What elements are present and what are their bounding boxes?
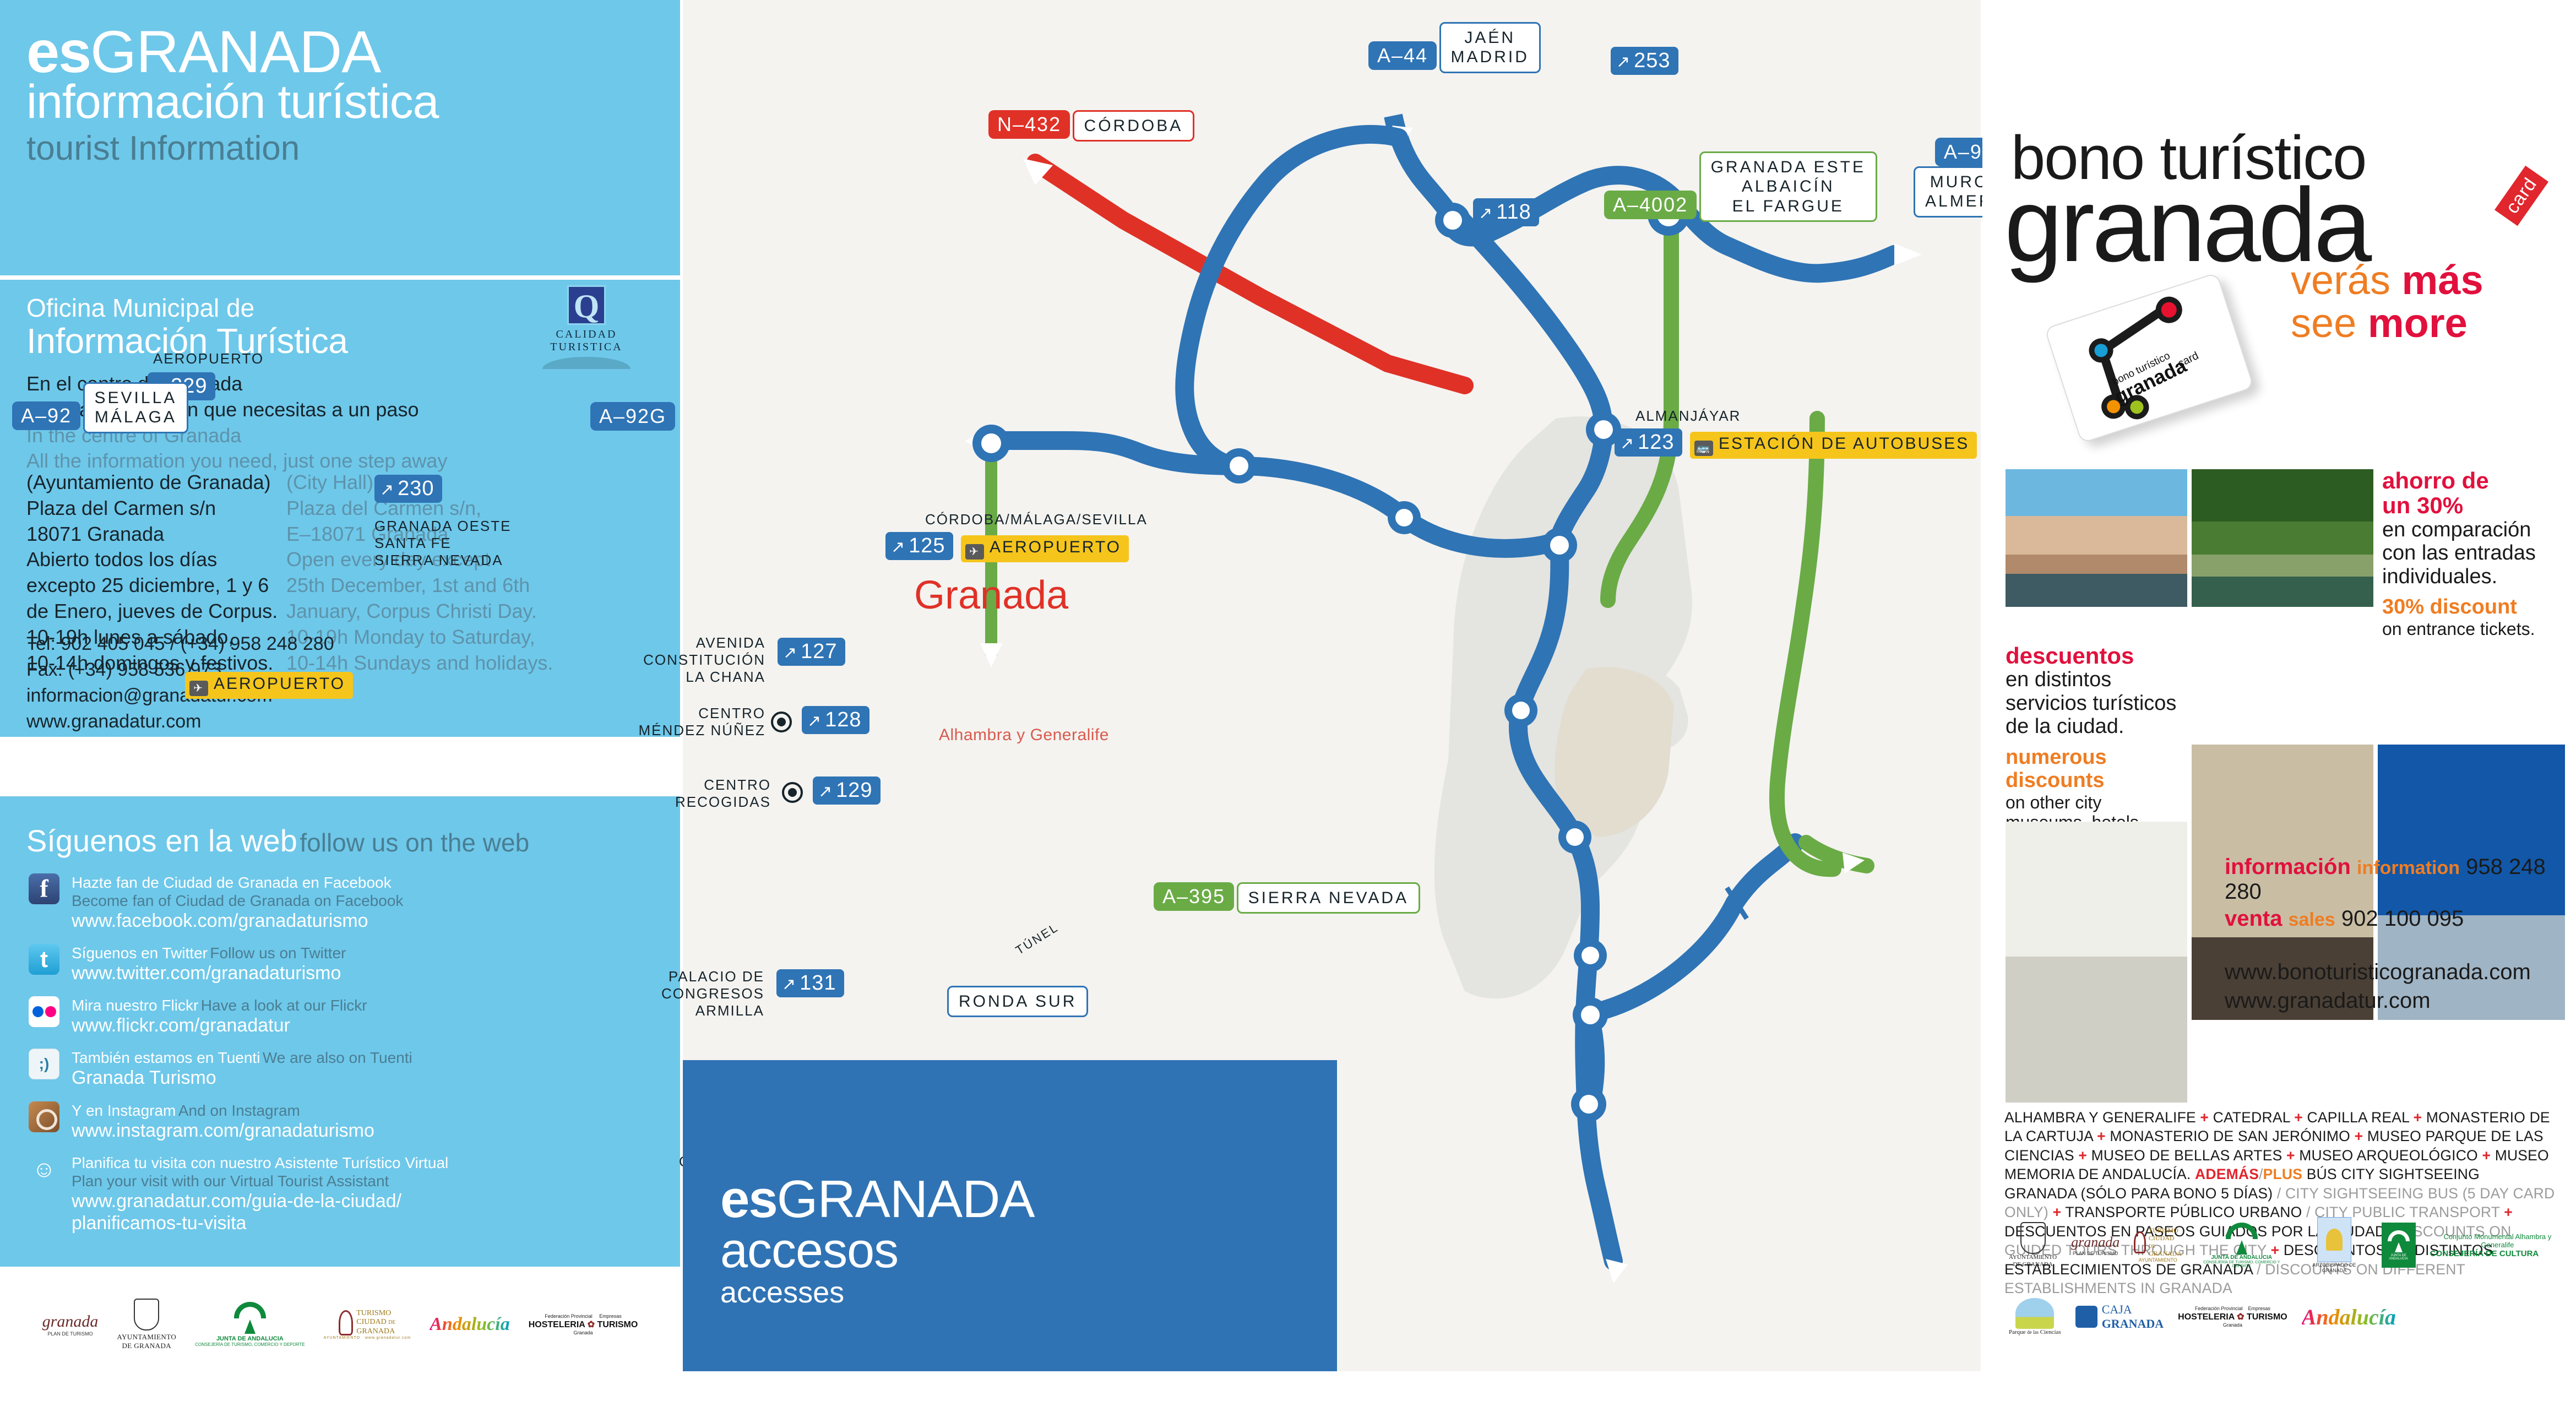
slogan-es-1: verás xyxy=(2291,257,2402,303)
office-title-small: Oficina Municipal de xyxy=(26,293,348,323)
social-item-twitter[interactable]: Síguenos en Twitter Follow us on Twitter… xyxy=(29,944,656,984)
exit-131: ↗131 xyxy=(776,969,844,997)
address-es-line-2: 18071 Granada xyxy=(26,522,302,547)
social-title-es: Síguenos en la web xyxy=(26,823,297,858)
junta-de-andalucia-turismo-logo: JUNTA DE ANDALUCIA CONSEJERÍA DE TURISMO… xyxy=(2196,1223,2287,1268)
info-label-es: información xyxy=(2225,855,2351,879)
conjunto-monumental-alhambra-logo: Conjunto Monumental Alhambra y Generalif… xyxy=(2430,1232,2565,1258)
airplane-icon: ✈ xyxy=(189,681,208,696)
poi-aeropuerto-bottom: ✈AEROPUERTO xyxy=(185,672,353,699)
social-url-2[interactable]: planificamos-tu-visita xyxy=(72,1212,448,1234)
address-es-line-1: Plaza del Carmen s/n xyxy=(26,496,302,522)
sponsor-row-2: Parque de las Ciencias CAJA GRANADA Fede… xyxy=(2009,1286,2565,1348)
card-text-card: card xyxy=(2176,350,2201,371)
bono-turistico-panel: bono turístico granada card bono turísti… xyxy=(1982,0,2576,1401)
sales-label-en: sales xyxy=(2289,909,2335,930)
exit-118-badge: ↗118 xyxy=(1473,198,1539,226)
social-label-es: Y en Instagram xyxy=(72,1102,176,1119)
andalucia-arc-icon xyxy=(234,1302,266,1318)
address-es-line-0: (Ayuntamiento de Granada) xyxy=(26,470,302,496)
savings-head-en: 30% discount xyxy=(2382,596,2564,619)
arzobispado-de-granada-logo: ARZOBISPADO DE GRANADA xyxy=(2301,1217,2367,1274)
slogan-en-1: see xyxy=(2291,300,2368,346)
social-label-en: Plan your visit with our Virtual Tourist… xyxy=(72,1172,448,1190)
exit-230-badge: ↗230 xyxy=(374,475,442,503)
address-en-line-5: January, Corpus Christi Day. xyxy=(286,599,595,625)
alhambra-shape xyxy=(1555,667,1674,837)
shield-n432: N–432 xyxy=(988,110,1070,139)
info-phone-line: información information 958 248 280 xyxy=(2225,855,2576,904)
parque-de-las-ciencias-logo: Parque de las Ciencias xyxy=(2009,1298,2061,1336)
slogan-block: verás más see more xyxy=(2291,259,2483,345)
social-item-tuenti[interactable]: También estamos en Tuenti We are also on… xyxy=(29,1049,656,1089)
info-label-en: information xyxy=(2357,857,2460,878)
map-brand-accesos: accesos xyxy=(720,1226,1035,1275)
map-brand-footer: esGRANADA accesos accesses xyxy=(683,1060,1337,1371)
social-item-flickr[interactable]: Mira nuestro Flickr Have a look at our F… xyxy=(29,996,656,1036)
exit-127-badge: ↗127 xyxy=(778,638,845,666)
exit-118: ↗118 xyxy=(1473,198,1539,226)
address-en-line-4: 25th December, 1st and 6th xyxy=(286,573,595,599)
twitter-icon[interactable] xyxy=(29,944,59,975)
exit-123: ↗123 🚌ESTACIÓN DE AUTOBUSES xyxy=(1615,428,1977,459)
plate-granada-este: GRANADA ESTEALBAICÍNEL FARGUE xyxy=(1699,151,1877,222)
virtual-assistant-icon[interactable] xyxy=(29,1154,59,1185)
crest-icon xyxy=(134,1299,159,1331)
social-url[interactable]: Granada Turismo xyxy=(72,1067,412,1089)
airplane-icon: ✈ xyxy=(965,544,984,560)
label-almanjayar: ALMANJÁYAR xyxy=(1635,408,1741,425)
flickr-icon[interactable] xyxy=(29,996,59,1027)
social-label-en: And on Instagram xyxy=(178,1102,300,1119)
exit-129: ↗129 xyxy=(813,776,881,805)
facebook-icon[interactable] xyxy=(29,873,59,904)
shield-a92g: A–92G xyxy=(590,402,675,431)
federacion-hosteleria-turismo-logo: Federación Provincial Empresas HOSTELERI… xyxy=(529,1313,638,1335)
exit-253-badge: ↗253 xyxy=(1611,47,1678,75)
social-label-es: Hazte fan de Ciudad de Granada en Facebo… xyxy=(72,873,403,892)
instagram-icon[interactable] xyxy=(29,1101,59,1132)
exit-129-badge: ↗129 xyxy=(813,776,881,805)
social-title-en: follow us on the web xyxy=(300,828,529,857)
hero-brand-block: esGRANADA información turística tourist … xyxy=(0,0,680,275)
label-centro-mendez-nunez: CENTROMÉNDEZ NÚÑEZ xyxy=(617,705,765,739)
quality-caption: CALIDAD TURISTICA xyxy=(540,328,633,354)
sign-a92-sevilla-malaga: A–92 SEVILLAMÁLAGA xyxy=(12,382,188,433)
card-ribbon-tag: card xyxy=(2495,166,2548,226)
exit-127: ↗127 xyxy=(778,638,845,666)
granada-plan-de-turismo-logo: granada PLAN DE TURISMO xyxy=(42,1312,99,1337)
andalucia-arc-icon xyxy=(2226,1223,2258,1239)
social-item-facebook[interactable]: Hazte fan de Ciudad de Granada en Facebo… xyxy=(29,873,656,932)
tuenti-icon[interactable] xyxy=(29,1049,59,1079)
contact-block: información information 958 248 280 vent… xyxy=(2225,855,2576,1015)
poi-aeropuerto-badge: ✈AEROPUERTO xyxy=(185,672,353,699)
crest-icon xyxy=(2020,1222,2046,1254)
sign-a92g: A–92G xyxy=(590,402,675,431)
exit-128: ↗128 xyxy=(802,706,869,734)
plate-jaen-madrid: JAÉNMADRID xyxy=(1439,22,1541,73)
q-badge-icon: Q xyxy=(567,285,606,325)
website-granadatur[interactable]: www.granadatur.com xyxy=(2225,986,2576,1015)
exit-125: ↗125 ✈AEROPUERTO xyxy=(885,532,1129,562)
discounts-block: descuentos en distintosservicios turísti… xyxy=(2006,643,2182,852)
ayuntamiento-de-granada-logo: AYUNTAMIENTODE GRANADA xyxy=(2009,1222,2057,1268)
slogan-en-2: more xyxy=(2368,300,2468,346)
sign-a395-sierra-nevada: A–395 SIERRA NEVADA xyxy=(1154,882,1420,914)
label-palacio-congresos: PALACIO DE CONGRESOSARMILLA xyxy=(583,968,764,1020)
savings-body-en: on entrance tickets. xyxy=(2382,619,2564,639)
poi-estacion-de-autobuses: 🚌ESTACIÓN DE AUTOBUSES xyxy=(1690,432,1977,459)
sign-a44-jaen-madrid: A–44 JAÉNMADRID xyxy=(1368,22,1541,73)
sign-a4002-granada-este: A–4002 GRANADA ESTEALBAICÍNEL FARGUE xyxy=(1604,151,1877,222)
roundabout-icon xyxy=(782,782,803,803)
slogan-es-2: más xyxy=(2402,257,2483,303)
photo-generalife-garden xyxy=(2192,469,2373,607)
plate-cordoba: CÓRDOBA xyxy=(1073,110,1195,142)
granada-card-graphic: bono turístico granada card xyxy=(2044,272,2254,443)
office-contact-line-0: Tel: 902 405 045 / (+34) 958 248 280 xyxy=(26,631,334,657)
granada-plan-de-turismo-logo: granada PLAN DE TURISMO xyxy=(2071,1234,2120,1256)
exit-128-badge: ↗128 xyxy=(802,706,869,734)
sales-phone-number: 902 100 095 xyxy=(2341,906,2464,931)
poi-aeropuerto-top: ✈AEROPUERTO xyxy=(961,535,1129,562)
social-label-en: Have a look at our Flickr xyxy=(201,997,367,1014)
shield-a395: A–395 xyxy=(1154,882,1234,911)
exit-230: ↗230 xyxy=(374,475,442,503)
photo-columns xyxy=(2006,822,2187,1103)
social-label-en: Follow us on Twitter xyxy=(210,944,346,962)
social-media-block: Síguenos en la web follow us on the web … xyxy=(0,796,680,1267)
social-url[interactable]: www.granadatur.com/guia-de-la-ciudad/ xyxy=(72,1190,448,1212)
left-sponsor-logos: granada PLAN DE TURISMO AYUNTAMIENTODE G… xyxy=(0,1272,680,1377)
right-sponsor-logos: AYUNTAMIENTODE GRANADA granada PLAN DE T… xyxy=(2009,1214,2565,1348)
discounts-body-es: en distintosservicios turísticosde la ci… xyxy=(2006,668,2182,738)
office-contact-line-3[interactable]: www.granadatur.com xyxy=(26,709,334,735)
social-url[interactable]: www.twitter.com/granadaturismo xyxy=(72,962,346,984)
shield-a92-west: A–92 xyxy=(12,401,80,430)
social-item-virtual-assistant[interactable]: Planifica tu visita con nuestro Asistent… xyxy=(29,1154,656,1234)
q-letter: Q xyxy=(569,287,604,323)
savings-head-es: ahorro deun 30% xyxy=(2382,468,2564,518)
andalucia-logo: Andalucía xyxy=(430,1314,509,1335)
brand-es: es xyxy=(26,18,90,85)
card-dot-red xyxy=(2153,293,2186,326)
discounts-head-es: descuentos xyxy=(2006,643,2182,668)
exit-123-badge: ↗123 xyxy=(1615,428,1682,457)
left-information-panel: esGRANADA información turística tourist … xyxy=(0,0,680,1267)
website-bonoturistico[interactable]: www.bonoturisticogranada.com xyxy=(2225,958,2576,986)
map-brand-granada: GRANADA xyxy=(777,1170,1035,1229)
bus-icon: 🚌 xyxy=(1694,441,1713,456)
exit-131-badge: ↗131 xyxy=(776,969,844,997)
label-centro-recogidas: CENTRORECOGIDAS xyxy=(650,776,771,811)
shield-a4002: A–4002 xyxy=(1604,191,1697,219)
sales-label-es: venta xyxy=(2225,906,2282,931)
shield-a44-north: A–44 xyxy=(1368,41,1437,70)
city-label-granada: Granada xyxy=(914,573,1068,618)
ayuntamiento-de-granada-logo: AYUNTAMIENTODE GRANADA xyxy=(117,1299,176,1350)
plate-sevilla-malaga: SEVILLAMÁLAGA xyxy=(83,382,189,433)
hero-subtitle-en: tourist Information xyxy=(26,129,439,168)
label-aeropuerto-exit-229: AEROPUERTO xyxy=(153,350,264,367)
junta-de-andalucia-logo: JUNTA DE ANDALUCIA CONSEJERÍA DE TURISMO… xyxy=(195,1302,305,1347)
label-exit-230: GRANADA OESTESANTA FESIERRA NEVADA xyxy=(374,518,512,569)
social-label-es: Planifica tu visita con nuestro Asistent… xyxy=(72,1154,448,1172)
photo-alhambra-patio xyxy=(2006,469,2187,607)
roundabout-icon xyxy=(771,712,792,732)
address-es-line-4: excepto 25 diciembre, 1 y 6 xyxy=(26,573,302,599)
sponsor-row-1: AYUNTAMIENTODE GRANADA granada PLAN DE T… xyxy=(2009,1214,2565,1276)
social-item-instagram[interactable]: Y en Instagram And on Instagramwww.insta… xyxy=(29,1101,656,1142)
turismo-ciudad-de-granada-logo: TURISMOCIUDAD DEGRANADA AYUNTAMIENTO www… xyxy=(324,1309,411,1339)
address-es-line-3: Abierto todos los días xyxy=(26,547,302,573)
label-cordoba-malaga-sevilla: CÓRDOBA/MÁLAGA/SEVILLA xyxy=(925,511,1148,528)
social-url[interactable]: www.instagram.com/granadaturismo xyxy=(72,1120,374,1142)
brand-granada: GRANADA xyxy=(90,18,381,85)
plate-ronda-sur: RONDA SUR xyxy=(947,986,1088,1017)
sign-n432-cordoba: N–432 CÓRDOBA xyxy=(988,110,1194,142)
savings-body-es: en comparacióncon las entradasindividual… xyxy=(2382,518,2564,589)
social-links-list[interactable]: Hazte fan de Ciudad de Granada en Facebo… xyxy=(29,873,656,1246)
social-label-es: Síguenos en Twitter xyxy=(72,944,208,962)
federacion-hosteleria-turismo-logo: Federación Provincial Empresas HOSTELERI… xyxy=(2178,1306,2287,1328)
andalucia-triangle-icon xyxy=(244,1319,256,1334)
social-url[interactable]: www.facebook.com/granadaturismo xyxy=(72,910,403,932)
junta-de-andalucia-cultura-logo: JUNTA DE ANDALUCIA xyxy=(2382,1223,2416,1268)
map-brand-accesses: accesses xyxy=(720,1275,1035,1310)
label-alhambra-generalife: Alhambra y Generalife xyxy=(939,726,1109,745)
exit-253: ↗253 xyxy=(1611,47,1678,75)
swoosh-shape xyxy=(542,357,631,369)
andalucia-logo: Andalucía xyxy=(2302,1304,2396,1330)
calidad-turistica-logo: Q CALIDAD TURISTICA xyxy=(540,285,633,369)
map-brand-es: es xyxy=(720,1170,777,1229)
plate-sierra-nevada: SIERRA NEVADA xyxy=(1237,882,1421,914)
sales-phone-line: venta sales 902 100 095 xyxy=(2225,906,2576,931)
address-es-line-5: de Enero, jueves de Corpus. xyxy=(26,599,302,625)
hero-subtitle-es: información turística xyxy=(26,78,439,126)
caja-granada-logo: CAJA GRANADA xyxy=(2075,1302,2164,1331)
social-label-es: Mira nuestro Flickr xyxy=(72,997,198,1014)
exit-125-badge: ↗125 xyxy=(885,532,953,560)
turismo-ciudad-de-granada-logo: TURISMOCIUDAD DEGRANADA AYUNTAMIENTO xyxy=(2134,1227,2182,1263)
savings-block: ahorro deun 30% en comparacióncon las en… xyxy=(2382,468,2564,639)
discounts-head-en: numerousdiscounts xyxy=(2006,746,2182,792)
social-label-en: Become fan of Ciudad de Granada on Faceb… xyxy=(72,892,403,910)
social-label-en: We are also on Tuenti xyxy=(263,1049,412,1066)
social-label-es: También estamos en Tuenti xyxy=(72,1049,260,1066)
sign-ronda-sur: RONDA SUR xyxy=(947,986,1088,1017)
label-avenida-constitucion: AVENIDA CONSTITUCIÓNLA CHANA xyxy=(573,634,765,686)
andalucia-triangle-icon xyxy=(2236,1240,2247,1255)
social-url[interactable]: www.flickr.com/granadatur xyxy=(72,1014,367,1036)
